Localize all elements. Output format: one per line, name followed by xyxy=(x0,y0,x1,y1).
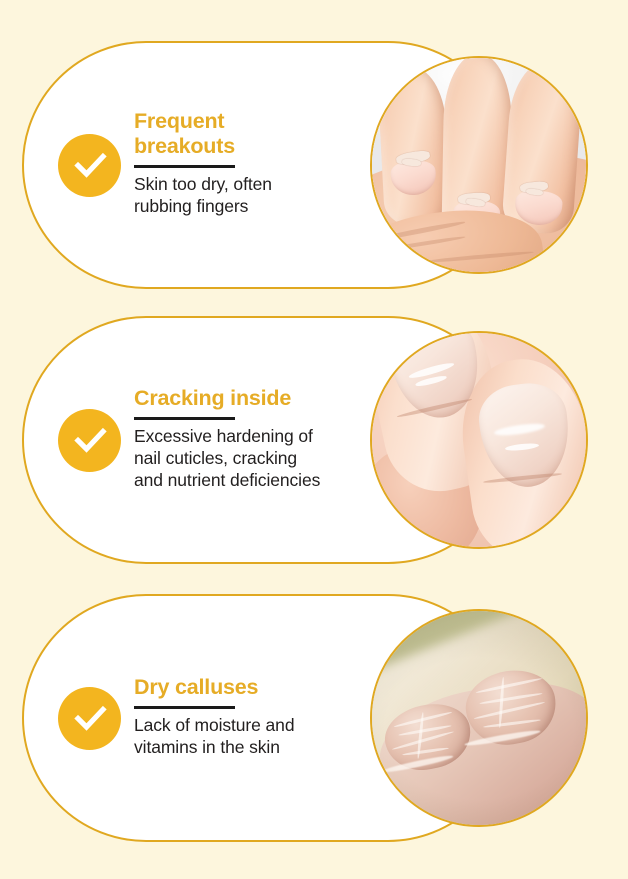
card-description: Skin too dry, often rubbing fingers xyxy=(134,173,388,217)
card-title: Frequent breakouts xyxy=(134,109,388,159)
infographic-page: Frequent breakouts Skin too dry, often r… xyxy=(0,0,628,879)
title-divider xyxy=(134,417,235,420)
photo-illustration xyxy=(372,333,586,547)
card-title: Cracking inside xyxy=(134,386,388,411)
card-content: Cracking inside Excessive hardening of n… xyxy=(58,318,388,562)
card-photo xyxy=(370,609,588,827)
card-text: Frequent breakouts Skin too dry, often r… xyxy=(134,109,388,217)
check-icon xyxy=(58,134,121,197)
card-text: Dry calluses Lack of moisture and vitami… xyxy=(134,675,388,758)
card-description: Excessive hardening of nail cuticles, cr… xyxy=(134,425,388,491)
title-divider xyxy=(134,706,235,709)
card-description: Lack of moisture and vitamins in the ski… xyxy=(134,714,388,758)
check-icon xyxy=(58,409,121,472)
card-text: Cracking inside Excessive hardening of n… xyxy=(134,386,388,491)
card-photo xyxy=(370,331,588,549)
card-content: Frequent breakouts Skin too dry, often r… xyxy=(58,43,388,287)
title-divider xyxy=(134,165,235,168)
check-icon xyxy=(58,687,121,750)
card-content: Dry calluses Lack of moisture and vitami… xyxy=(58,596,388,840)
photo-illustration xyxy=(372,58,586,272)
card-photo xyxy=(370,56,588,274)
card-title: Dry calluses xyxy=(134,675,388,700)
photo-illustration xyxy=(372,611,586,825)
